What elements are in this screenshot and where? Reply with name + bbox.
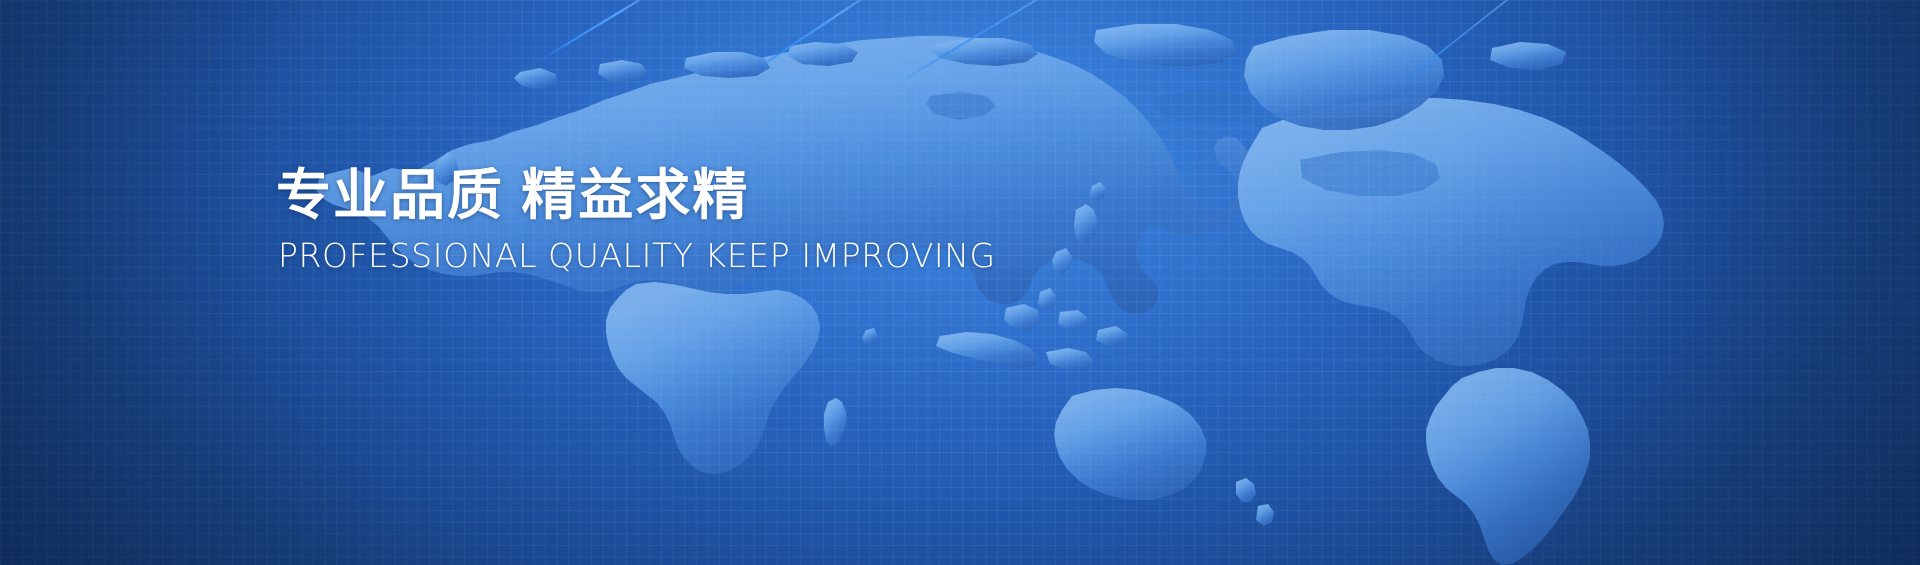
banner-headline-chinese: 专业品质 精益求精 — [276, 164, 1276, 228]
hero-banner: 专业品质 精益求精 PROFESSIONAL QUALITY KEEP IMPR… — [0, 0, 1920, 565]
banner-copy: 专业品质 精益求精 PROFESSIONAL QUALITY KEEP IMPR… — [276, 164, 1276, 274]
vignette-overlay — [0, 0, 1920, 565]
banner-subline-english: PROFESSIONAL QUALITY KEEP IMPROVING — [278, 238, 1276, 274]
